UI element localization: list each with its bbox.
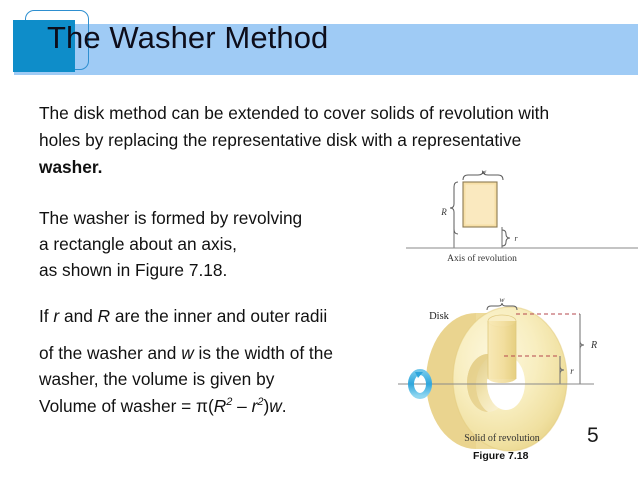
radii-line2-pre: of the washer and bbox=[39, 343, 181, 363]
formula-minus: – bbox=[232, 396, 251, 416]
formula-pre: Volume of washer = π( bbox=[39, 396, 214, 416]
figure-bottom-label-R: R bbox=[590, 340, 597, 351]
radii-line1-mid: and bbox=[59, 306, 97, 326]
formula-period: . bbox=[282, 396, 287, 416]
paragraph-formation-line1: The washer is formed by revolving bbox=[39, 205, 419, 231]
paragraph-formation-line2: a rectangle about an axis, bbox=[39, 231, 419, 257]
figure-bottom-label-disk: Disk bbox=[429, 311, 450, 322]
paragraph-radii-line2: of the washer and w is the width of the bbox=[39, 340, 429, 366]
figure-bottom-caption: Solid of revolution bbox=[464, 433, 540, 444]
radii-line1-post: are the inner and outer radii bbox=[110, 306, 327, 326]
page-title: The Washer Method bbox=[47, 22, 328, 53]
page-number: 5 bbox=[587, 424, 599, 448]
figure-top-label-r: r bbox=[514, 234, 518, 243]
figure-number-caption: Figure 7.18 bbox=[473, 450, 528, 462]
paragraph-intro-emphasis: washer. bbox=[39, 157, 102, 177]
paragraph-radii-line1: If r and R are the inner and outer radii bbox=[39, 303, 429, 329]
paragraph-intro-text: The disk method can be extended to cover… bbox=[39, 103, 549, 150]
figure-top-label-w: w bbox=[482, 168, 487, 176]
radii-line1-pre: If bbox=[39, 306, 53, 326]
figure-solid-svg: Disk w bbox=[398, 286, 638, 454]
paragraph-radii-line3: washer, the volume is given by bbox=[39, 366, 429, 392]
volume-formula: Volume of washer = π(R2 – r2)w. bbox=[39, 396, 429, 417]
figure-solid-of-revolution: Disk w bbox=[398, 286, 638, 454]
figure-bottom-label-r: r bbox=[570, 366, 574, 376]
slide: The Washer Method The disk method can be… bbox=[0, 0, 638, 479]
radii-line2-post: is the width of the bbox=[194, 343, 333, 363]
figure-top-caption: Axis of revolution bbox=[447, 253, 517, 264]
var-w-1: w bbox=[181, 343, 193, 363]
paragraph-formation: The washer is formed by revolving a rect… bbox=[39, 205, 419, 283]
figure-rectangle-axis: w R r Axis of revolution bbox=[406, 168, 638, 276]
paragraph-radii: If r and R are the inner and outer radii… bbox=[39, 303, 429, 392]
formula-var-w: w bbox=[269, 396, 281, 416]
figure-bottom-label-w: w bbox=[499, 295, 504, 304]
figure-rectangle-axis-svg: w R r Axis of revolution bbox=[406, 168, 638, 276]
formula-var-R: R bbox=[214, 396, 226, 416]
var-R-1: R bbox=[98, 306, 110, 326]
figure-top-label-R: R bbox=[440, 207, 447, 217]
paragraph-formation-line3: as shown in Figure 7.18. bbox=[39, 257, 419, 283]
